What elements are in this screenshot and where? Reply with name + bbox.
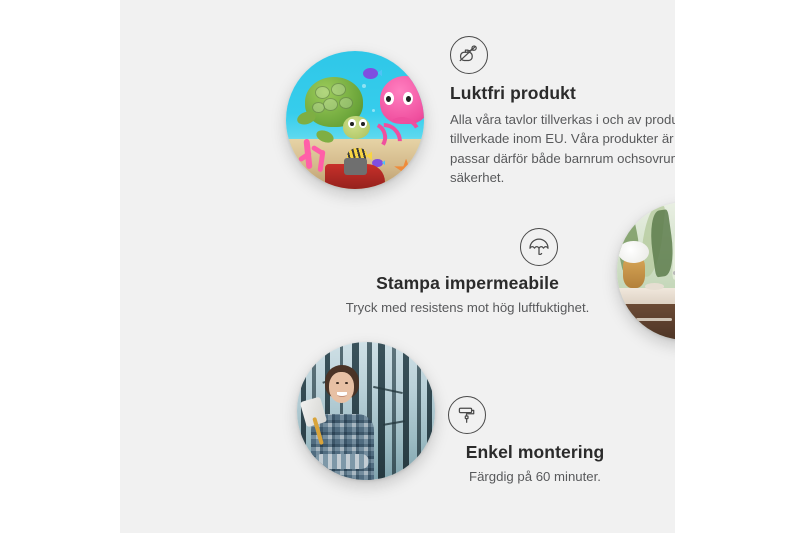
feature-block-odor-free: Luktfri produkt Alla våra tavlor tillver… bbox=[450, 36, 675, 187]
image-bathroom-wallpaper bbox=[617, 202, 675, 340]
umbrella-icon bbox=[520, 228, 558, 266]
feature-title: Enkel montering bbox=[420, 442, 650, 463]
feature-block-easy-mounting: Enkel montering Färgdig på 60 minuter. bbox=[420, 396, 650, 486]
feature-panel: Luktfri produkt Alla våra tavlor tillver… bbox=[120, 0, 675, 533]
paint-roller-icon bbox=[448, 396, 486, 434]
feature-description: Tryck med resistens mot hög luftfuktighe… bbox=[325, 298, 610, 317]
image-underwater-illustration bbox=[286, 51, 424, 189]
feature-title: Stampa impermeabile bbox=[325, 273, 610, 294]
feature-description: Färgdig på 60 minuter. bbox=[420, 467, 650, 486]
screenshot-root: Luktfri produkt Alla våra tavlor tillver… bbox=[0, 0, 800, 533]
feature-title: Luktfri produkt bbox=[450, 83, 675, 104]
feature-description: Alla våra tavlor tillverkas i och av pro… bbox=[450, 110, 675, 187]
feature-block-waterproof: Stampa impermeabile Tryck med resistens … bbox=[325, 228, 610, 317]
no-perfume-bottle-icon bbox=[450, 36, 488, 74]
image-painter-forest bbox=[297, 342, 435, 480]
